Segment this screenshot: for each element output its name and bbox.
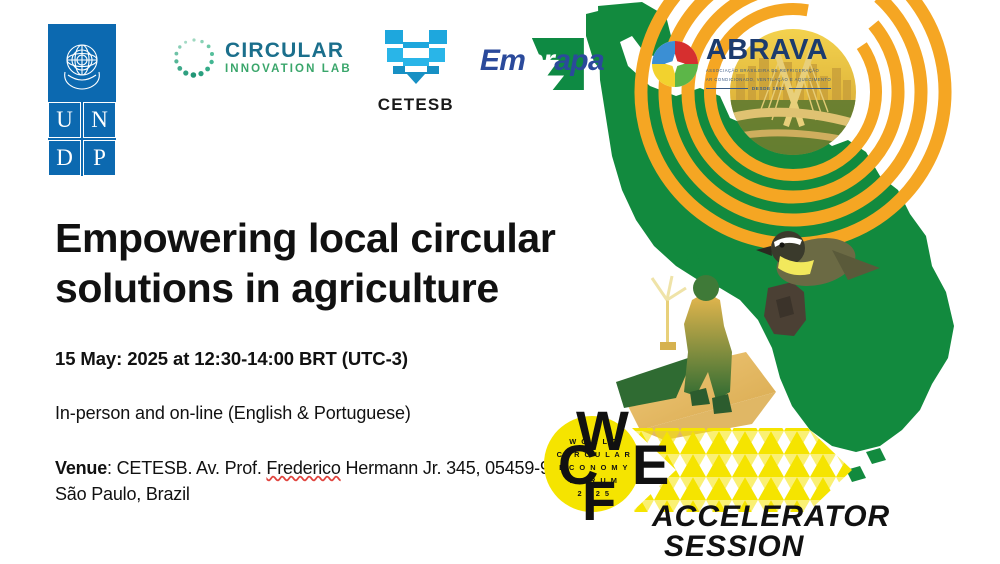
undp-letter-p: P <box>83 140 116 176</box>
cetesb-logo: CETESB <box>378 28 454 115</box>
cetesb-name: CETESB <box>378 95 454 115</box>
embrapa-part2: br <box>525 44 554 77</box>
event-venue: Venue: CETESB. Av. Prof. Frederico Herma… <box>55 455 575 507</box>
wcef-letter-f: F <box>582 469 616 532</box>
wcef-session-text: SESSION <box>664 530 805 563</box>
event-mode: In-person and on-line (English & Portugu… <box>55 403 575 424</box>
venue-name-misspelled: Frederico <box>266 458 340 478</box>
circular-innovation-lab-logo: CIRCULAR INNOVATION LAB <box>172 36 352 80</box>
abrava-circle-icon <box>652 41 698 87</box>
un-emblem-icon <box>48 24 116 102</box>
cil-title: CIRCULAR <box>225 40 352 61</box>
undp-letter-n: N <box>83 102 116 138</box>
embrapa-wordmark: Embrapa <box>480 44 604 78</box>
event-date: 15 May: 2025 at 12:30-14:00 BRT (UTC-3) <box>55 348 575 370</box>
undp-logo: U N D P <box>48 24 116 176</box>
cetesb-mark-icon <box>381 28 451 86</box>
venue-label: Venue <box>55 458 107 478</box>
embrapa-part3: apa <box>554 44 604 77</box>
abrava-logo: ABRAVA ASSOCIAÇÃO BRASILEIRA DE REFRIGER… <box>652 36 831 91</box>
embrapa-logo: Embrapa <box>480 38 620 90</box>
abrava-since: DESDE 1962 <box>706 87 831 92</box>
sponsor-logo-bar: U N D P CIRCULAR INNOVATIO <box>48 24 831 176</box>
undp-letter-d: D <box>48 140 81 176</box>
abrava-since-year: DESDE 1962 <box>752 87 785 92</box>
event-details: 15 May: 2025 at 12:30-14:00 BRT (UTC-3) … <box>55 348 575 507</box>
undp-letter-u: U <box>48 102 81 138</box>
abrava-tagline-2: AR CONDICIONADO, VENTILAÇÃO E AQUECIMENT… <box>706 77 831 83</box>
abrava-tagline-1: ASSOCIAÇÃO BRASILEIRA DE REFRIGERAÇÃO <box>706 68 831 74</box>
abrava-name: ABRAVA <box>706 36 831 65</box>
event-poster: U N D P CIRCULAR INNOVATIO <box>0 0 1000 564</box>
page-title: Empowering local circular solutions in a… <box>55 213 695 314</box>
wcef-letter-w: W <box>576 408 629 462</box>
embrapa-part1: Em <box>480 44 526 77</box>
undp-letters: U N D P <box>48 102 116 176</box>
cil-subtitle: INNOVATION LAB <box>225 64 352 76</box>
venue-separator: : CETESB. Av. Prof. <box>107 458 266 478</box>
wcef-accelerator-logo: W O R L D C I R C U L A R E C O N O M Y … <box>524 408 924 564</box>
wcef-accelerator-text: ACCELERATOR <box>651 500 890 533</box>
wcef-letter-e: E <box>632 433 669 496</box>
circular-dots-icon <box>172 36 216 80</box>
